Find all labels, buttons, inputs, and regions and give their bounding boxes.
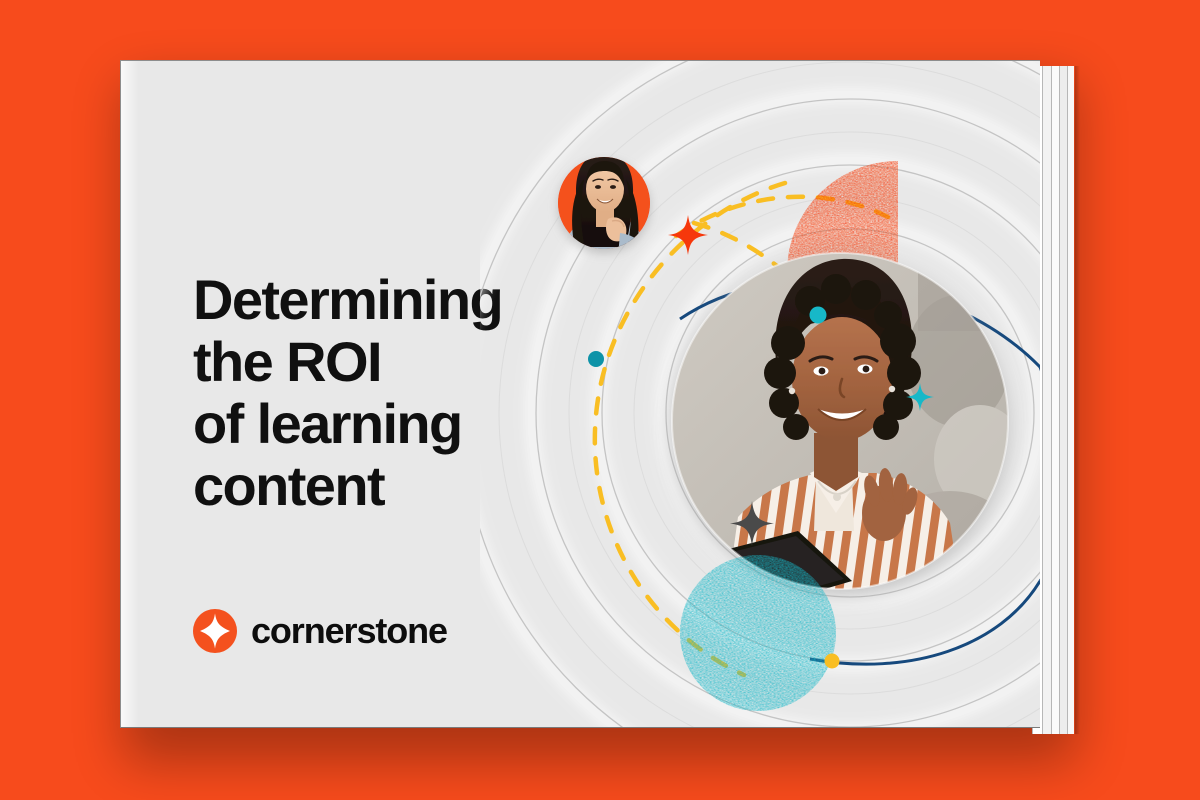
cover-spine-shading: [121, 61, 139, 727]
avatar-photo-small: [558, 153, 650, 263]
teal-circle: [680, 555, 836, 711]
page-sheet: [1059, 66, 1067, 734]
page-sheet: [1051, 66, 1059, 734]
poster-canvas: Determining the ROI of learning content …: [0, 0, 1200, 800]
dot-yellow-lower: [825, 654, 840, 669]
page-sheet: [1067, 66, 1074, 734]
cover-illustration: [480, 61, 1040, 728]
brand-wordmark: cornerstone: [251, 610, 447, 652]
page-sheet: [1042, 66, 1051, 734]
dot-teal-upper: [810, 307, 827, 324]
brand-logo-lockup: cornerstone: [193, 609, 447, 653]
cornerstone-sparkle-icon: [193, 609, 237, 653]
ebook-cover: Determining the ROI of learning content …: [120, 60, 1040, 728]
dot-teal-left: [588, 351, 604, 367]
